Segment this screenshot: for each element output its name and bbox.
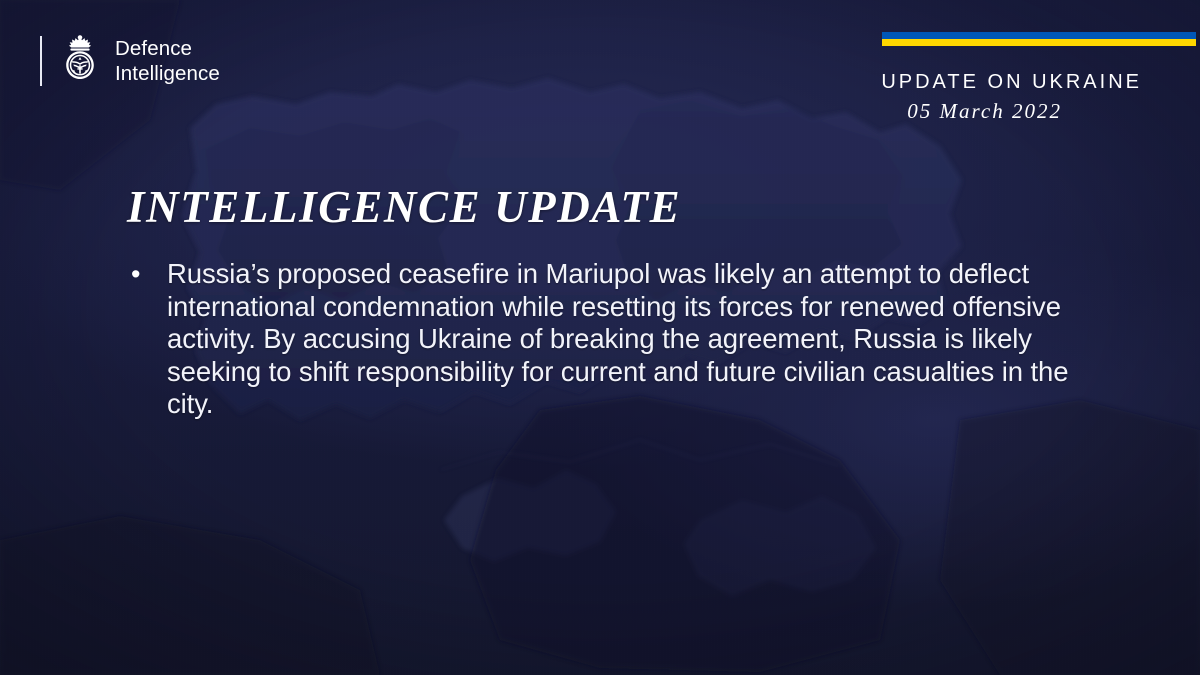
update-header: UPDATE ON UKRAINE 05 March 2022 <box>876 32 1196 124</box>
intelligence-update-slide: Defence Intelligence UPDATE ON UKRAINE 0… <box>0 0 1200 675</box>
update-label: UPDATE ON UKRAINE <box>876 70 1196 94</box>
defence-intelligence-branding: Defence Intelligence <box>40 30 220 92</box>
bullet-marker: • <box>128 258 167 290</box>
bullet-text: Russia’s proposed ceasefire in Mariupol … <box>167 258 1118 421</box>
defence-intelligence-crest-icon <box>58 33 102 89</box>
flag-yellow-stripe <box>882 39 1196 46</box>
brand-wordmark: Defence Intelligence <box>115 36 220 86</box>
brand-line-1: Defence <box>115 36 220 61</box>
flag-blue-stripe <box>882 32 1196 39</box>
page-title: INTELLIGENCE UPDATE <box>127 181 681 233</box>
ukraine-flag-bar <box>882 32 1196 46</box>
brand-line-2: Intelligence <box>115 61 220 86</box>
vertical-rule-divider <box>40 36 42 86</box>
list-item: • Russia’s proposed ceasefire in Mariupo… <box>128 258 1118 421</box>
update-date: 05 March 2022 <box>876 99 1196 124</box>
bullet-list: • Russia’s proposed ceasefire in Mariupo… <box>128 258 1118 421</box>
